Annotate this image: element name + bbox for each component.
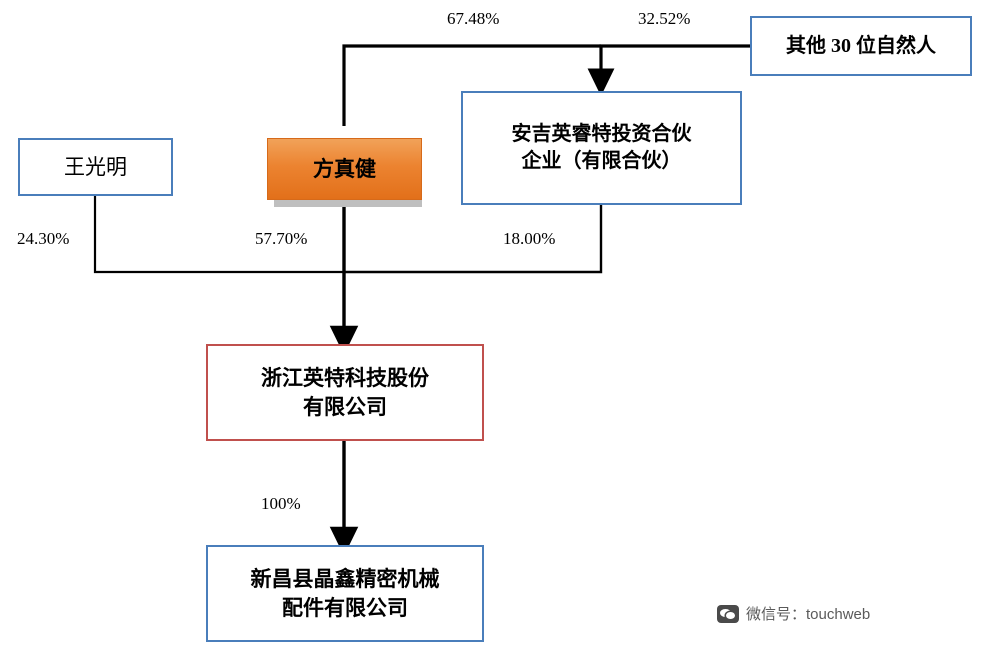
edge-label-67-48: 67.48% — [447, 9, 499, 29]
watermark: 微信号：touchweb — [717, 603, 870, 624]
node-xinchang-jingxin[interactable]: 新昌县晶鑫精密机械 配件有限公司 — [206, 545, 484, 642]
node-fang-zhenjian[interactable]: 方真健 — [267, 138, 422, 200]
edge-label-32-52: 32.52% — [638, 9, 690, 29]
edge-anji-to-zhejiang — [344, 205, 601, 272]
node-wang-guangming[interactable]: 王光明 — [18, 138, 173, 196]
edge-label-18-00: 18.00% — [503, 229, 555, 249]
node-anji-yingruite[interactable]: 安吉英睿特投资合伙 企业（有限合伙） — [461, 91, 742, 205]
edge-other30-to-anji — [601, 46, 750, 82]
edge-label-100: 100% — [261, 494, 301, 514]
edge-label-24-30: 24.30% — [17, 229, 69, 249]
node-fang-zhenjian-shadow — [274, 200, 422, 207]
wechat-icon — [717, 605, 739, 623]
node-other-30-natural-persons[interactable]: 其他 30 位自然人 — [750, 16, 972, 76]
diagram-canvas: 其他 30 位自然人 安吉英睿特投资合伙 企业（有限合伙） 王光明 方真健 浙江… — [0, 0, 991, 664]
node-zhejiang-yingte[interactable]: 浙江英特科技股份 有限公司 — [206, 344, 484, 441]
watermark-text: 微信号：touchweb — [746, 603, 870, 624]
edge-label-57-70: 57.70% — [255, 229, 307, 249]
